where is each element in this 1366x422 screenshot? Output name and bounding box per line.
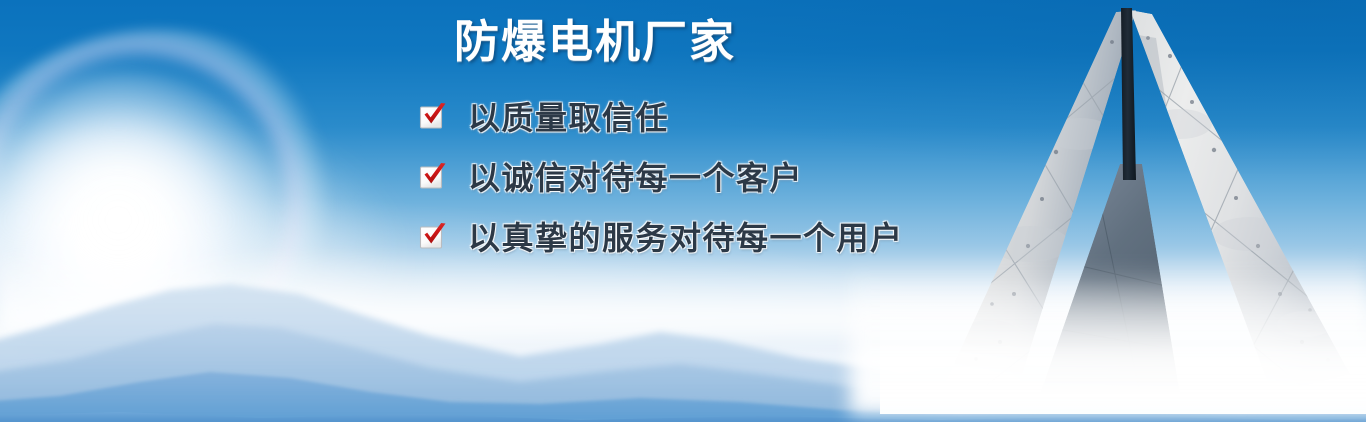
list-item-label: 以诚信对待每一个客户 <box>468 153 803 199</box>
monument-apex-slot <box>1121 8 1136 180</box>
list-item-label: 以质量取信任 <box>468 93 669 139</box>
banner-copy: 防爆电机厂家 <box>418 16 978 266</box>
checkbox-checked-icon <box>418 221 448 251</box>
monument-base-fade <box>880 279 1366 414</box>
list-item-label: 以真挚的服务对待每一个用户 <box>468 213 904 259</box>
checkbox-checked-icon <box>418 101 448 131</box>
list-item: 以诚信对待每一个客户 <box>418 146 978 206</box>
benefits-list: 以质量取信任 以诚信对待每一个客户 以真挚的 <box>418 86 978 266</box>
list-item: 以真挚的服务对待每一个用户 <box>418 206 978 266</box>
page-title: 防爆电机厂家 <box>454 16 978 68</box>
promotional-banner: 防爆电机厂家 <box>0 0 1366 422</box>
list-item: 以质量取信任 <box>418 86 978 146</box>
checkbox-checked-icon <box>418 161 448 191</box>
